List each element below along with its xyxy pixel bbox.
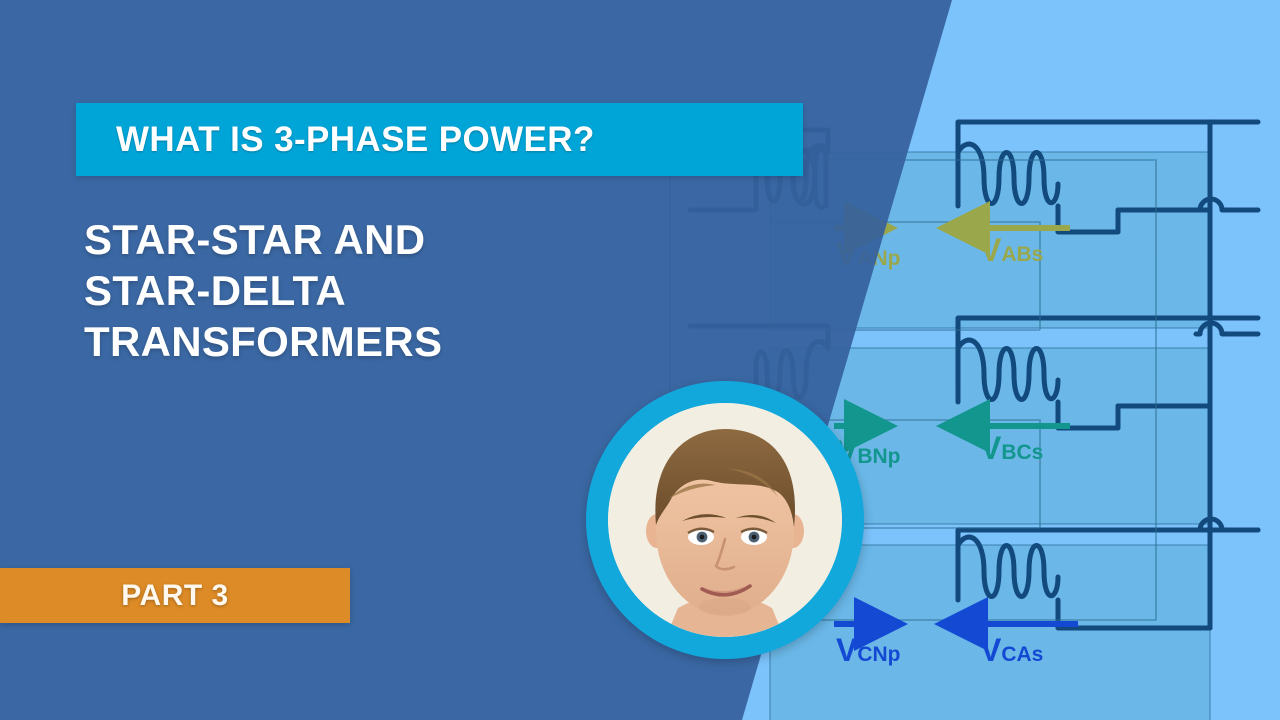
label-vcas: VCAs [980,634,1043,666]
avatar-photo [608,403,842,637]
title-banner: WHAT IS 3-PHASE POWER? [76,103,803,176]
label-vbcs: VBCs [980,432,1043,464]
label-vcnp: VCNp [836,634,901,666]
subtitle-line-3: TRANSFORMERS [84,316,644,367]
part-badge-text: PART 3 [121,579,228,613]
banner-title-text: WHAT IS 3-PHASE POWER? [116,120,595,160]
avatar [586,381,864,659]
page-title: STAR-STAR AND STAR-DELTA TRANSFORMERS [84,214,644,368]
slide-canvas: VANp VABs VBNp VBCs VCNp VCAs WHAT IS 3-… [0,0,1280,720]
part-badge: PART 3 [0,568,350,623]
presenter-face-illustration [608,403,842,637]
label-vanp: VANp [836,238,901,270]
subtitle-line-2: STAR-DELTA [84,265,644,316]
subtitle-line-1: STAR-STAR AND [84,214,644,265]
label-vabs: VABs [980,234,1043,266]
